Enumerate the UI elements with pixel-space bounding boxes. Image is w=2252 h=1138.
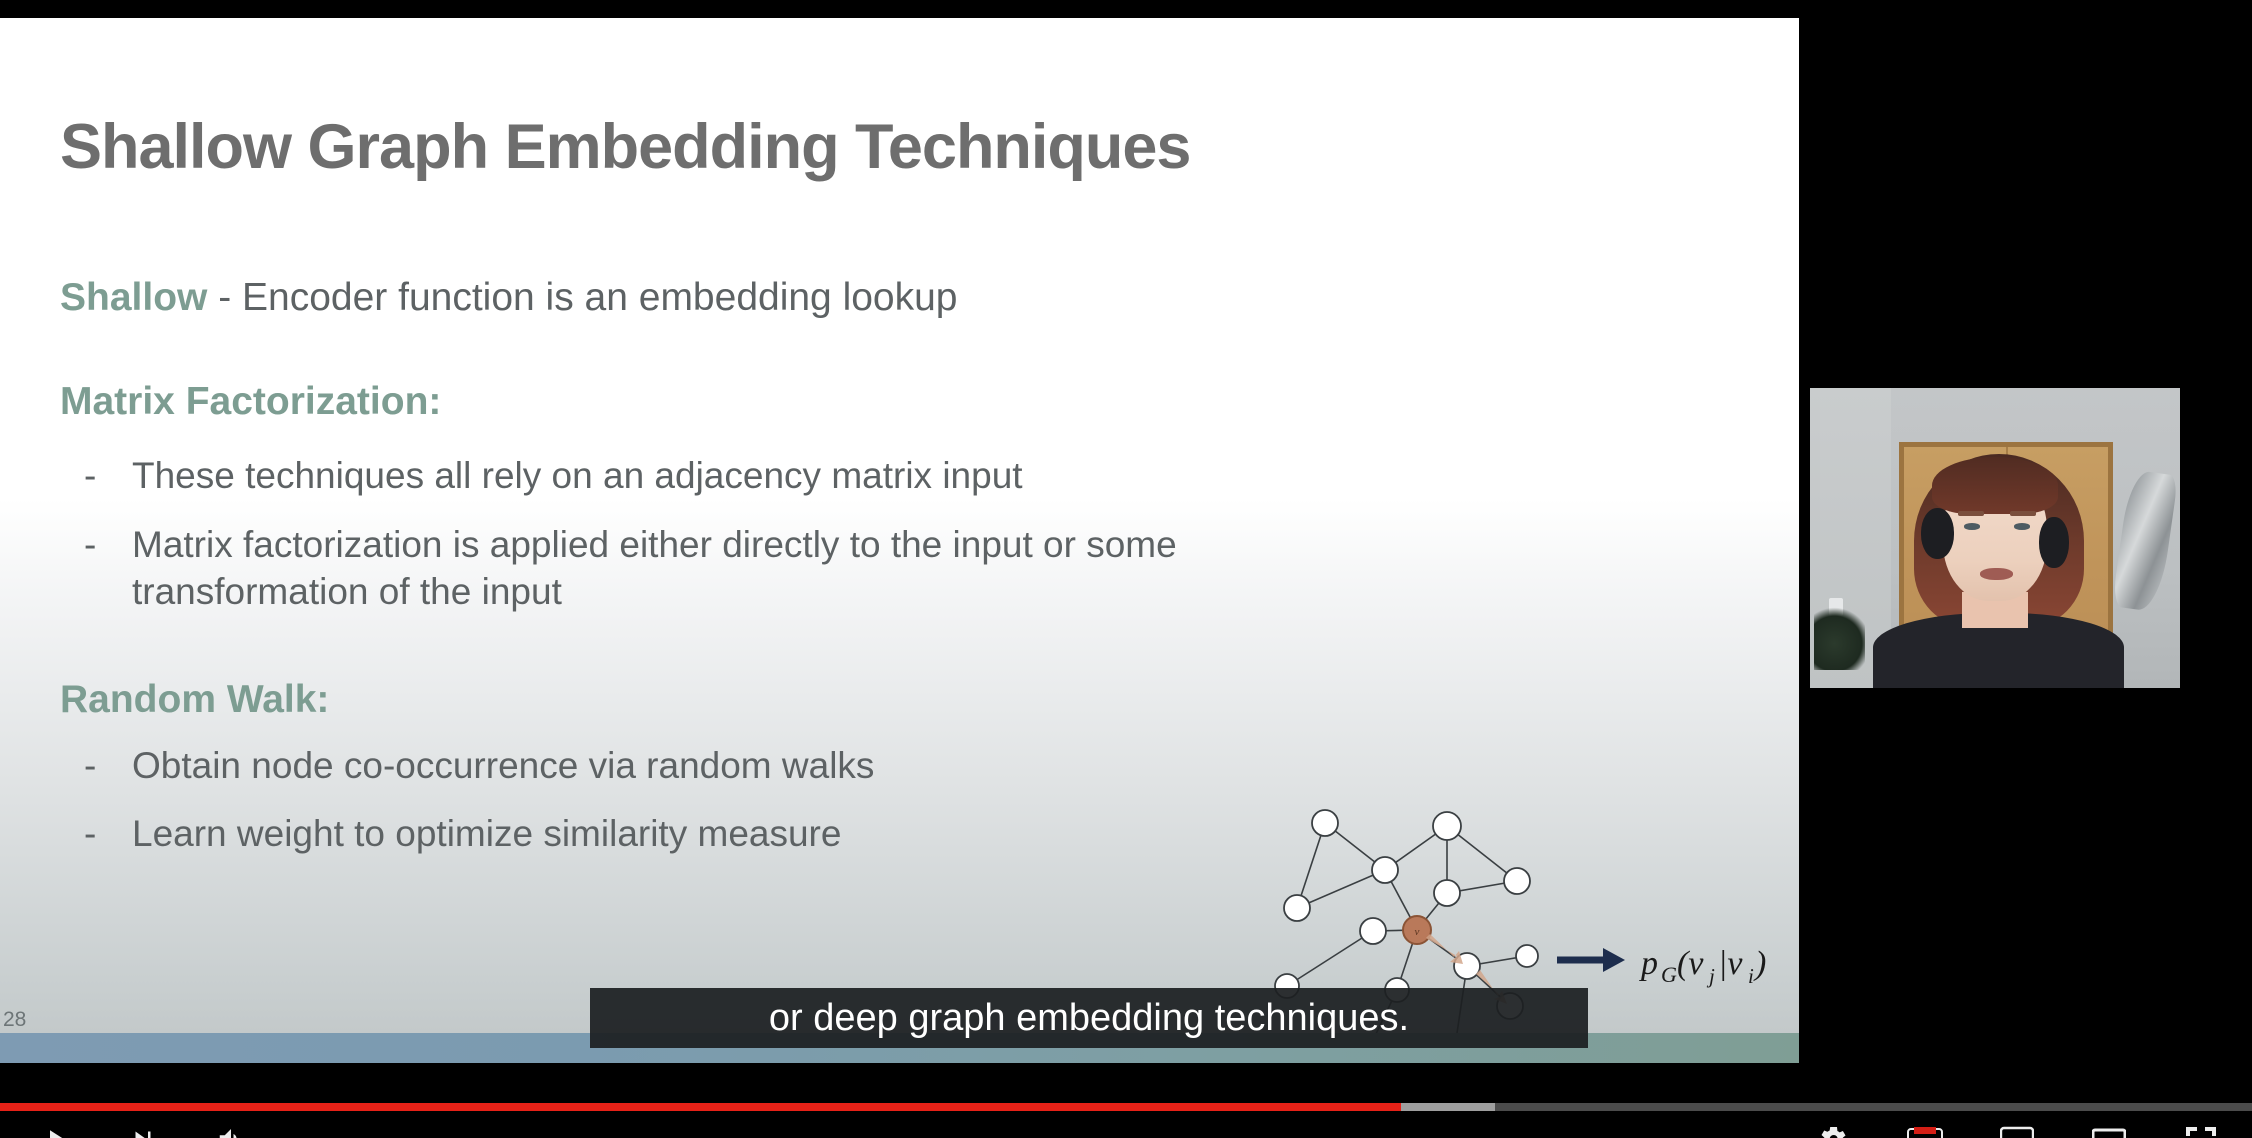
progress-bar[interactable] <box>0 1103 2252 1111</box>
webcam-person-hair-top <box>1932 457 2058 514</box>
next-button[interactable] <box>122 1118 164 1138</box>
webcam-plant <box>1814 604 1866 670</box>
slide-lead-accent: Shallow <box>60 276 207 319</box>
miniplayer-icon[interactable] <box>1996 1118 2038 1138</box>
fullscreen-icon[interactable] <box>2180 1118 2222 1138</box>
slide-lead-line: Shallow - Encoder function is an embeddi… <box>60 276 958 320</box>
closed-captions-icon[interactable]: CC <box>1904 1118 1946 1138</box>
svg-text:v: v <box>1415 926 1420 938</box>
svg-text:p: p <box>1639 945 1658 982</box>
bullet-item: - Matrix factorization is applied either… <box>84 521 1192 616</box>
svg-text:(v: (v <box>1677 945 1704 982</box>
webcam-person-headphone-right <box>2039 517 2069 568</box>
webcam-person-eye-left <box>1964 523 1981 530</box>
svg-text:i: i <box>1748 964 1754 988</box>
svg-text:G: G <box>1661 962 1677 987</box>
presentation-slide: Shallow Graph Embedding Techniques Shall… <box>0 18 1799 1063</box>
caption-text: or deep graph embedding techniques. <box>769 997 1409 1040</box>
bullet-text: Learn weight to optimize similarity meas… <box>132 810 841 857</box>
section-heading-matrix-factorization: Matrix Factorization: <box>60 380 441 424</box>
bullet-text: Obtain node co-occurrence via random wal… <box>132 742 874 789</box>
webcam-person-eye-right <box>2014 523 2031 530</box>
video-player[interactable]: Shallow Graph Embedding Techniques Shall… <box>0 0 2252 1138</box>
player-controls[interactable]: CC <box>0 1118 2252 1138</box>
webcam-person-headphone-left <box>1921 508 1954 559</box>
svg-text:): ) <box>1753 945 1766 982</box>
theater-mode-icon[interactable] <box>2088 1118 2130 1138</box>
caption-box: or deep graph embedding techniques. <box>590 988 1588 1048</box>
bullet-text: These techniques all rely on an adjacenc… <box>132 452 1023 499</box>
player-controls-left <box>0 1118 298 1138</box>
slide-lead-rest: - Encoder function is an embedding looku… <box>207 276 957 319</box>
bullet-item: - Obtain node co-occurrence via random w… <box>84 742 874 789</box>
webcam-person-brow-right <box>2010 511 2036 516</box>
slide-title: Shallow Graph Embedding Techniques <box>60 111 1190 183</box>
play-button[interactable] <box>34 1118 76 1138</box>
webcam-person-brow-left <box>1958 511 1984 516</box>
presenter-webcam[interactable] <box>1810 388 2180 688</box>
bullet-marker-icon: - <box>84 452 132 499</box>
bullet-item: - Learn weight to optimize similarity me… <box>84 810 841 857</box>
volume-icon[interactable] <box>210 1118 252 1138</box>
bullet-marker-icon: - <box>84 810 132 857</box>
section-heading-random-walk: Random Walk: <box>60 678 329 722</box>
progress-played <box>0 1103 1401 1111</box>
bullet-text: Matrix factorization is applied either d… <box>132 521 1192 616</box>
bullet-marker-icon: - <box>84 521 132 568</box>
svg-text:|v: |v <box>1718 945 1743 982</box>
webcam-person-mouth <box>1980 568 2013 580</box>
svg-text:j: j <box>1706 964 1715 988</box>
gear-icon[interactable] <box>1812 1118 1854 1138</box>
slide-number: 28 <box>3 1008 26 1032</box>
player-controls-right: CC <box>1812 1118 2252 1138</box>
bullet-marker-icon: - <box>84 742 132 789</box>
bullet-item: - These techniques all rely on an adjace… <box>84 452 1023 499</box>
